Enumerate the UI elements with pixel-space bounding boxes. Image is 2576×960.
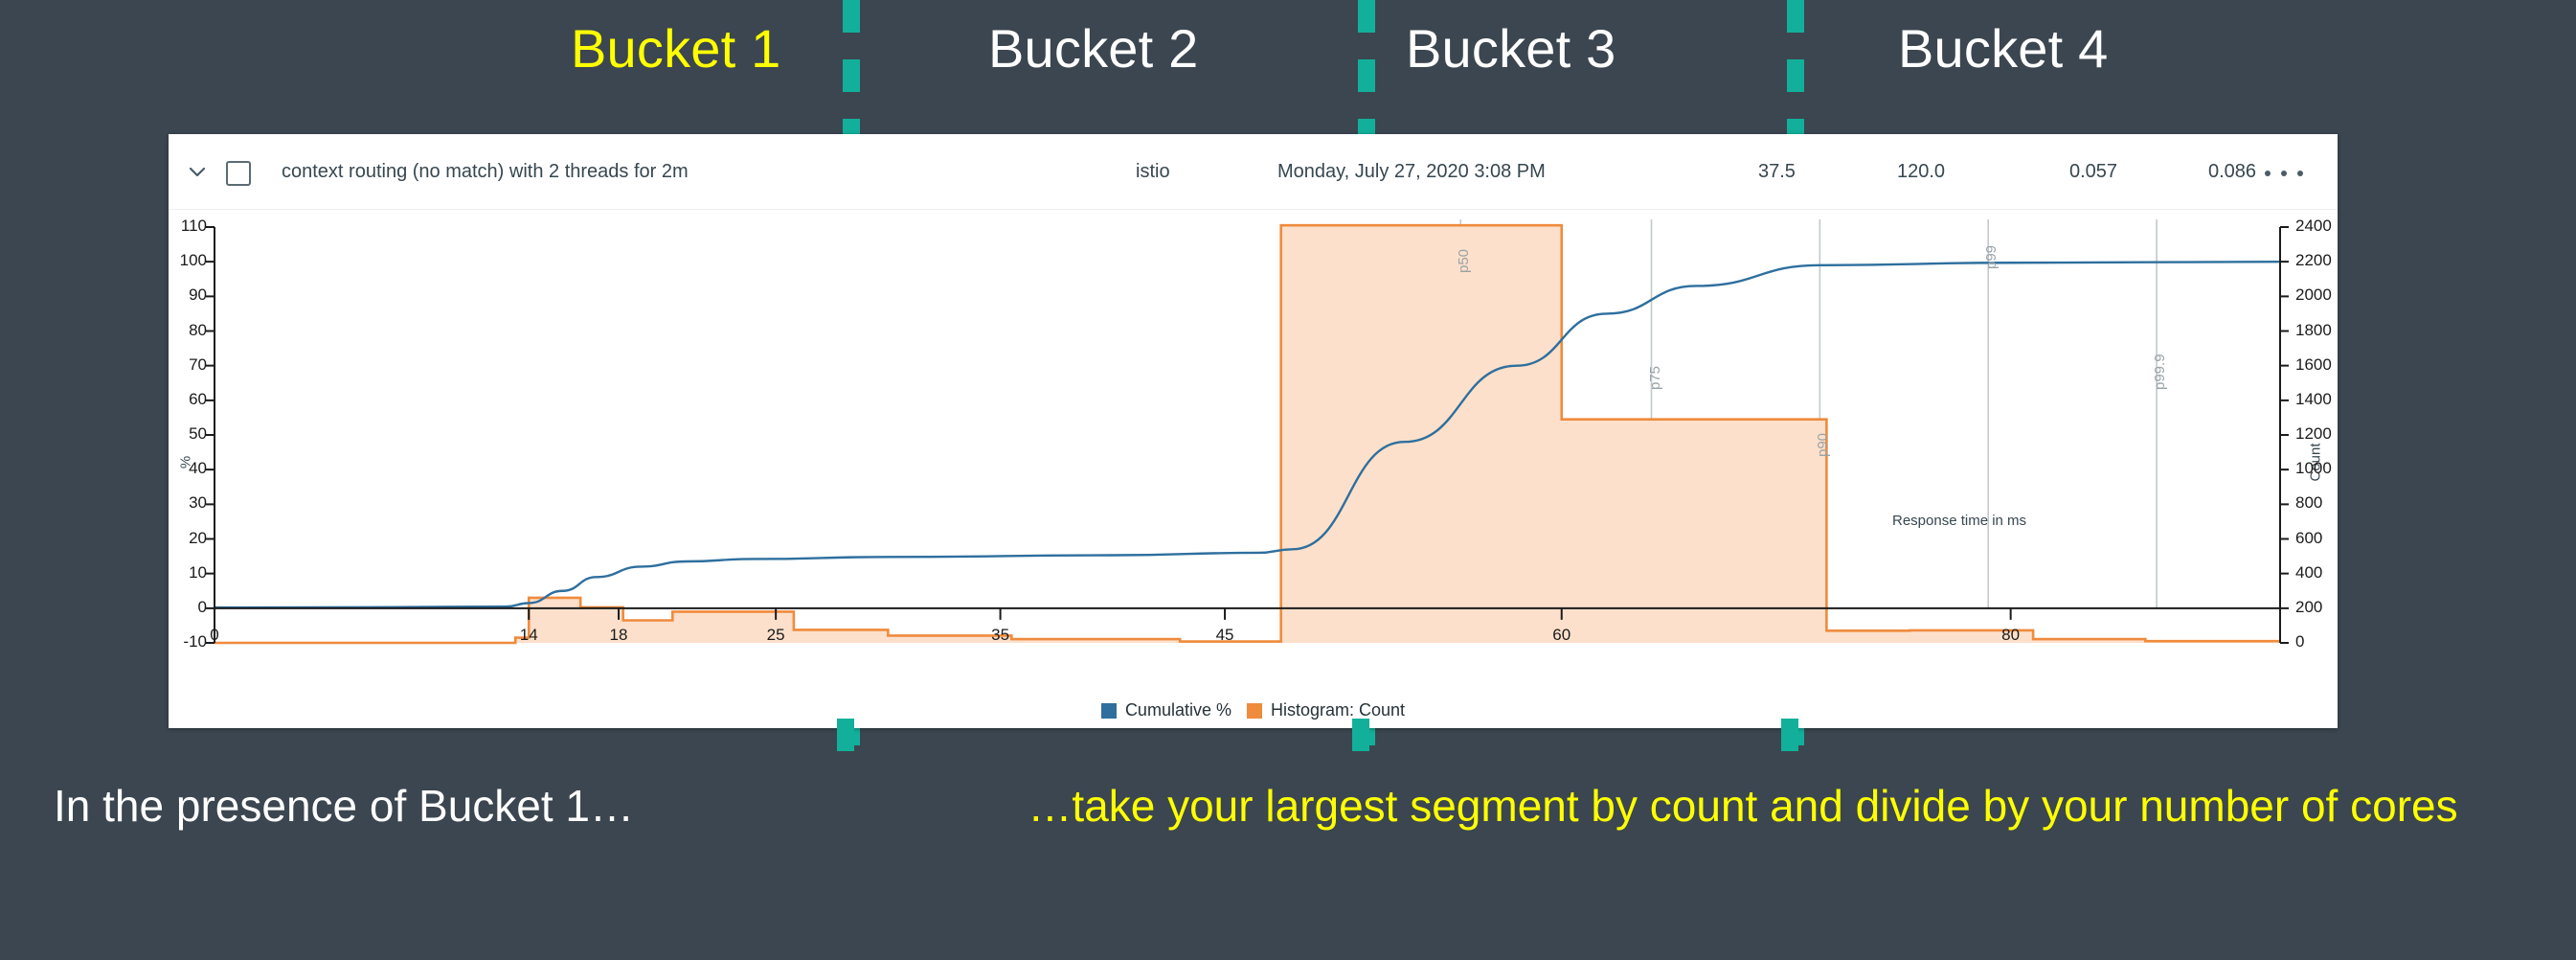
y2-tick-label: 1600 — [2295, 355, 2332, 375]
test-result-card: context routing (no match) with 2 thread… — [169, 134, 2338, 728]
percentile-label: p99 — [1983, 245, 2000, 269]
legend-swatch-histogram — [1247, 703, 1262, 719]
x-tick-label: 25 — [760, 626, 791, 645]
y-tick-label: 40 — [159, 459, 207, 478]
caption-left: In the presence of Bucket 1… — [54, 784, 634, 830]
legend-item-histogram[interactable]: Histogram: Count — [1247, 700, 1405, 720]
x-tick-label: 0 — [199, 626, 230, 645]
x-tick-label: 45 — [1209, 626, 1240, 645]
chevron-down-icon[interactable] — [186, 160, 209, 183]
legend-item-cumulative[interactable]: Cumulative % — [1101, 700, 1232, 720]
legend-swatch-cumulative — [1101, 703, 1117, 719]
y-tick-label: 0 — [159, 598, 207, 617]
test-name-label: context routing (no match) with 2 thread… — [282, 134, 689, 210]
y-tick-label: 110 — [159, 217, 207, 236]
y2-tick-label: 1400 — [2295, 390, 2332, 409]
y-tick-label: 50 — [159, 424, 207, 444]
bucket-divider-2-lower — [1352, 719, 1369, 776]
y2-tick-label: 2000 — [2295, 286, 2332, 305]
y-tick-label: 80 — [159, 321, 207, 340]
y-tick-label: 60 — [159, 390, 207, 409]
x-axis-title: Response time in ms — [1892, 513, 2026, 529]
x-tick-label: 18 — [603, 626, 634, 645]
y-tick-label: 100 — [159, 251, 207, 270]
y2-tick-label: 400 — [2295, 563, 2322, 583]
ellipsis-icon[interactable] — [2265, 161, 2303, 186]
card-header-row[interactable]: context routing (no match) with 2 thread… — [169, 134, 2338, 210]
metric-3-value: 0.057 — [2069, 134, 2117, 210]
metric-1-value: 37.5 — [1758, 134, 1796, 210]
tag-label: istio — [1136, 134, 1170, 210]
y-tick-label: 90 — [159, 286, 207, 305]
y2-tick-label: 1800 — [2295, 321, 2332, 340]
slide-canvas: Bucket 1 Bucket 2 Bucket 3 Bucket 4 cont… — [0, 0, 2576, 960]
timestamp-label: Monday, July 27, 2020 3:08 PM — [1277, 134, 1546, 210]
y-tick-label: 20 — [159, 529, 207, 548]
x-tick-label: 35 — [985, 626, 1016, 645]
bucket-divider-3-lower — [1781, 719, 1798, 776]
y2-tick-label: 600 — [2295, 529, 2322, 548]
chart-svg — [169, 210, 2338, 728]
y-tick-label: 30 — [159, 493, 207, 513]
y2-tick-label: 2400 — [2295, 217, 2332, 236]
cumulative-line — [215, 262, 2280, 607]
y2-tick-label: 800 — [2295, 493, 2322, 513]
row-select-checkbox[interactable] — [226, 161, 251, 186]
percentile-label: p90 — [1815, 433, 1831, 457]
y-tick-label: 70 — [159, 355, 207, 375]
percentile-label: p75 — [1647, 366, 1663, 390]
bucket-title-3: Bucket 3 — [1406, 19, 1616, 79]
y2-tick-label: 2200 — [2295, 251, 2332, 270]
chart-legend: Cumulative % Histogram: Count — [169, 700, 2338, 720]
bucket-divider-1-lower — [837, 719, 854, 776]
histogram-chart: % Count Response time in ms -10010203040… — [169, 210, 2338, 728]
x-tick-label: 80 — [1996, 626, 2026, 645]
y-tick-label: 10 — [159, 563, 207, 583]
x-tick-label: 14 — [513, 626, 544, 645]
bucket-title-4: Bucket 4 — [1898, 19, 2109, 79]
y2-tick-label: 1000 — [2295, 459, 2332, 478]
bucket-title-1: Bucket 1 — [571, 19, 781, 79]
percentile-label: p99.9 — [2152, 354, 2168, 390]
bucket-title-2: Bucket 2 — [988, 19, 1199, 79]
metric-4-value: 0.086 — [2208, 134, 2256, 210]
metric-2-value: 120.0 — [1897, 134, 1945, 210]
chart-axes — [206, 227, 2289, 643]
percentile-label: p50 — [1456, 249, 1472, 273]
legend-label-cumulative: Cumulative % — [1125, 700, 1232, 720]
y2-tick-label: 200 — [2295, 598, 2322, 617]
legend-label-histogram: Histogram: Count — [1271, 700, 1405, 720]
histogram-outline — [215, 225, 2280, 643]
y2-tick-label: 1200 — [2295, 424, 2332, 444]
caption-right: …take your largest segment by count and … — [948, 784, 2538, 830]
x-tick-label: 60 — [1547, 626, 1577, 645]
y2-tick-label: 0 — [2295, 632, 2304, 651]
histogram-area — [215, 225, 2280, 643]
